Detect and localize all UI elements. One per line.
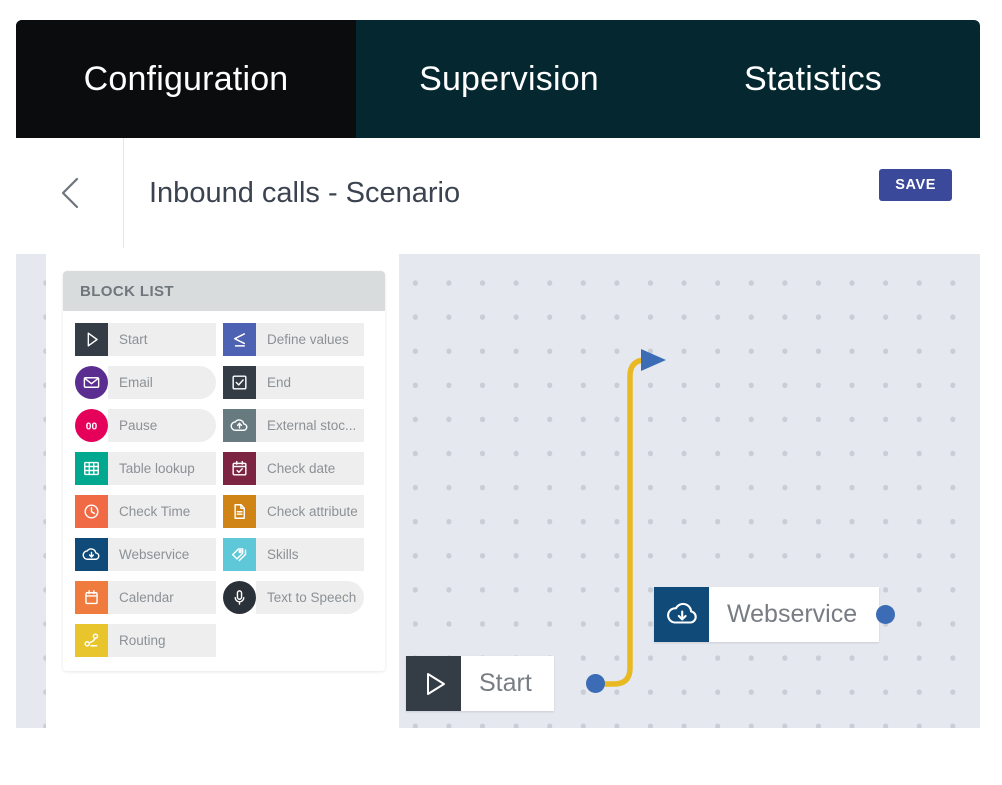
flow-node-start[interactable]: Start xyxy=(406,656,554,711)
cloud-down-icon xyxy=(654,587,709,642)
checkbox-icon xyxy=(223,366,256,399)
block-item-label: Define values xyxy=(256,323,364,356)
block-item-webservice[interactable]: Webservice xyxy=(75,538,216,571)
block-item-calendar[interactable]: Calendar xyxy=(75,581,216,614)
table-grid-icon xyxy=(75,452,108,485)
block-item-check-date[interactable]: Check date xyxy=(223,452,364,485)
flow-node-start-label: Start xyxy=(461,656,554,711)
flow-port-start-output[interactable] xyxy=(586,674,605,693)
block-item-label: End xyxy=(256,366,364,399)
less-equal-icon xyxy=(223,323,256,356)
block-item-label: Routing xyxy=(108,624,216,657)
block-item-pause[interactable]: 00Pause xyxy=(75,409,216,442)
microphone-icon xyxy=(223,581,256,614)
play-icon xyxy=(406,656,461,711)
connector-start-to-webservice xyxy=(596,360,652,684)
block-list-items: StartDefine valuesEmailEnd00PauseExterna… xyxy=(63,311,385,671)
cloud-up-icon xyxy=(223,409,256,442)
block-item-external-stoc[interactable]: External stoc... xyxy=(223,409,364,442)
document-icon xyxy=(223,495,256,528)
block-item-label: Pause xyxy=(108,409,216,442)
routing-icon xyxy=(75,624,108,657)
block-item-routing[interactable]: Routing xyxy=(75,624,216,657)
connector-arrowhead-icon xyxy=(641,349,666,371)
block-item-check-attribute[interactable]: Check attribute xyxy=(223,495,364,528)
cloud-down-icon xyxy=(75,538,108,571)
block-item-text-to-speech[interactable]: Text to Speech xyxy=(223,581,364,614)
play-icon xyxy=(75,323,108,356)
block-item-email[interactable]: Email xyxy=(75,366,216,399)
save-button[interactable]: SAVE xyxy=(879,169,952,201)
page-title: Inbound calls - Scenario xyxy=(124,177,460,210)
block-item-label: Check attribute xyxy=(256,495,364,528)
block-item-label: Skills xyxy=(256,538,364,571)
block-item-label: Email xyxy=(108,366,216,399)
calendar-icon xyxy=(75,581,108,614)
block-item-label: Webservice xyxy=(108,538,216,571)
flow-node-webservice[interactable]: Webservice xyxy=(654,587,879,642)
top-navigation: Configuration Supervision Statistics xyxy=(16,20,980,138)
tags-icon xyxy=(223,538,256,571)
block-list-title: BLOCK LIST xyxy=(80,283,174,300)
block-item-check-time[interactable]: Check Time xyxy=(75,495,216,528)
tab-configuration[interactable]: Configuration xyxy=(16,20,356,138)
calendar-check-icon xyxy=(223,452,256,485)
block-item-label: Text to Speech xyxy=(256,581,364,614)
block-item-label: Calendar xyxy=(108,581,216,614)
flow-port-webservice-output[interactable] xyxy=(876,605,895,624)
block-list-header: BLOCK LIST xyxy=(63,271,385,311)
block-item-end[interactable]: End xyxy=(223,366,364,399)
block-list-panel: BLOCK LIST StartDefine valuesEmailEnd00P… xyxy=(63,271,385,671)
block-item-start[interactable]: Start xyxy=(75,323,216,356)
tab-supervision[interactable]: Supervision xyxy=(374,20,644,138)
back-button[interactable] xyxy=(16,138,124,248)
block-list-backdrop: BLOCK LIST StartDefine valuesEmailEnd00P… xyxy=(46,254,399,728)
block-item-define-values[interactable]: Define values xyxy=(223,323,364,356)
block-item-label: Check date xyxy=(256,452,364,485)
chevron-left-icon xyxy=(59,176,81,210)
block-item-label: External stoc... xyxy=(256,409,364,442)
envelope-icon xyxy=(75,366,108,399)
tab-statistics[interactable]: Statistics xyxy=(678,20,948,138)
flow-node-webservice-label: Webservice xyxy=(709,587,879,642)
pause-00-icon: 00 xyxy=(75,409,108,442)
block-item-label: Table lookup xyxy=(108,452,216,485)
clock-icon xyxy=(75,495,108,528)
scenario-canvas[interactable]: BLOCK LIST StartDefine valuesEmailEnd00P… xyxy=(16,254,980,728)
svg-text:00: 00 xyxy=(86,421,98,432)
block-item-skills[interactable]: Skills xyxy=(223,538,364,571)
block-item-label: Check Time xyxy=(108,495,216,528)
page-header: Inbound calls - Scenario SAVE xyxy=(16,138,980,248)
block-item-table-lookup[interactable]: Table lookup xyxy=(75,452,216,485)
block-item-label: Start xyxy=(108,323,216,356)
